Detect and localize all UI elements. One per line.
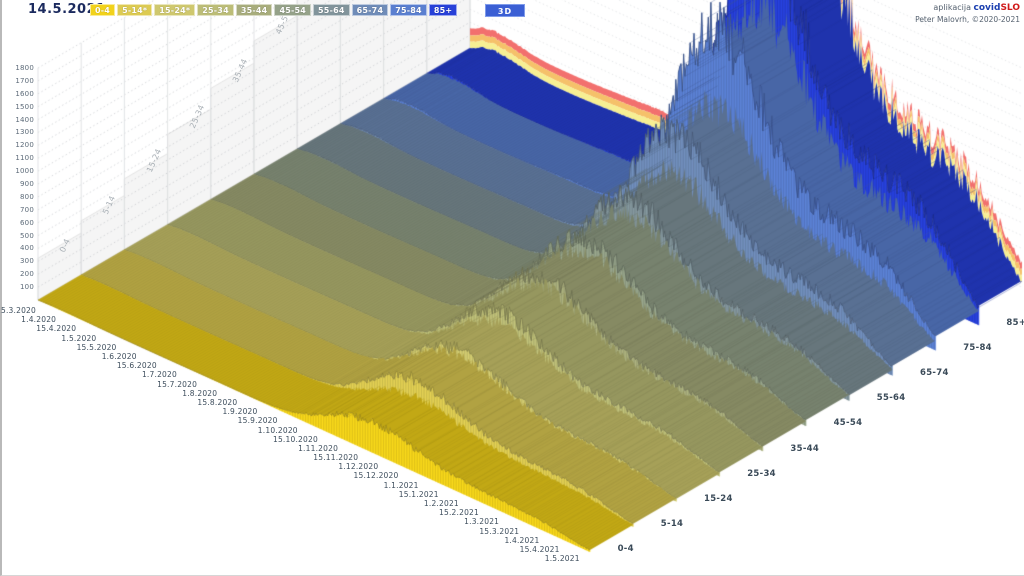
brand-app-name: aplikacija covidSLO [915,3,1020,14]
legend-chip-04[interactable]: 0-4 [90,4,115,16]
legend-chip-85+[interactable]: 85+ [429,4,457,16]
brand-covid-text: covid [974,3,1001,13]
legend-chip-514[interactable]: 5-14* [117,4,152,16]
age-group-legend: 0-45-14*15-24*25-3435-4445-5455-6465-747… [90,4,457,16]
header-bar: 14.5.2021 0-45-14*15-24*25-3435-4445-545… [2,0,1024,22]
brand-slo-text: SLO [1000,3,1020,13]
covid-3d-chart-app: 14.5.2021 0-45-14*15-24*25-3435-4445-545… [0,0,1024,576]
brand-prefix-text: aplikacija [933,3,971,12]
mode-3d-button[interactable]: 3D [485,4,525,17]
legend-chip-4554[interactable]: 45-54 [274,4,311,16]
legend-chip-2534[interactable]: 25-34 [197,4,234,16]
author-credit: Peter Malovrh, ©2020-2021 [915,15,1020,24]
legend-chip-3544[interactable]: 35-44 [236,4,273,16]
legend-chip-7584[interactable]: 75-84 [390,4,427,16]
legend-chip-1524[interactable]: 15-24* [154,4,195,16]
brand-credit: aplikacija covidSLO Peter Malovrh, ©2020… [915,3,1020,25]
surface-plot-canvas[interactable] [2,0,1024,576]
legend-chip-6574[interactable]: 65-74 [352,4,389,16]
legend-chip-5564[interactable]: 55-64 [313,4,350,16]
